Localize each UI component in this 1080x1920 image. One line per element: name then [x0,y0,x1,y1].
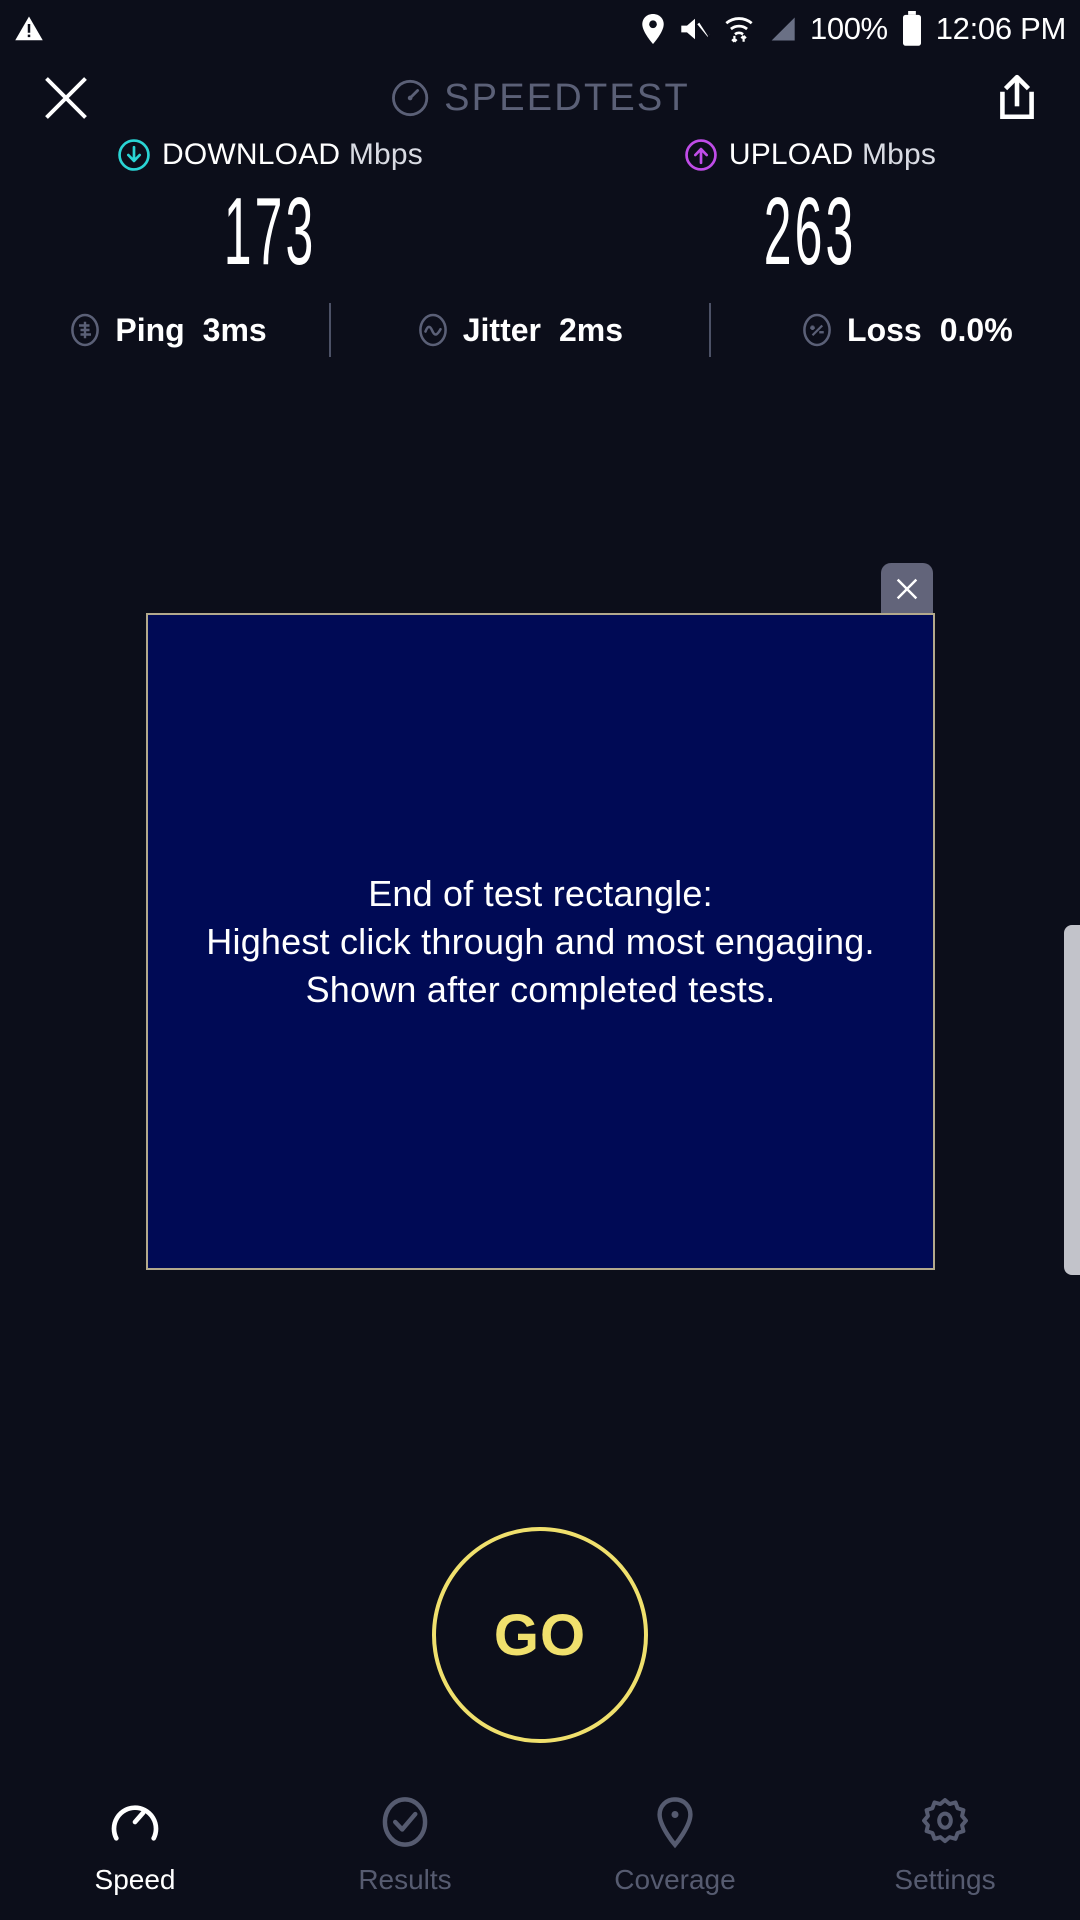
share-upload-icon[interactable] [994,73,1040,123]
speedtest-app-screen: 100% 12:06 PM SPEEDTEST [0,0,1080,1920]
go-button-label: GO [494,1602,586,1669]
download-unit: Mbps [349,138,423,171]
ping-icon [67,312,103,348]
download-label-text: DOWNLOAD [162,138,340,171]
ping-stat: Ping 3ms [67,312,266,349]
upload-label-text: UPLOAD [729,138,854,171]
nav-item-coverage[interactable]: Coverage [540,1794,810,1896]
status-bar-left [14,14,44,44]
arrow-down-circle-icon [117,138,151,172]
loss-icon [799,312,835,348]
ad-close-button[interactable] [881,563,933,615]
location-pin-icon [640,14,666,44]
nav-label-settings: Settings [894,1864,995,1896]
cellular-signal-icon [767,15,797,43]
jitter-value: 2ms [559,312,623,349]
jitter-label: Jitter [463,312,541,349]
warning-triangle-icon [14,14,44,44]
gear-icon [917,1794,973,1850]
vertical-scrollbar-thumb[interactable] [1064,925,1080,1275]
nav-item-settings[interactable]: Settings [810,1794,1080,1896]
close-x-icon[interactable] [40,72,92,124]
ad-line-1: End of test rectangle: [206,870,874,918]
status-bar: 100% 12:06 PM [0,0,1080,58]
jitter-icon [415,312,451,348]
volume-mute-icon [679,14,711,44]
ad-banner[interactable]: End of test rectangle: Highest click thr… [146,613,935,1270]
loss-label: Loss [847,312,922,349]
upload-value: 263 [764,184,857,280]
ad-text-block: End of test rectangle: Highest click thr… [206,870,874,1014]
speed-results-panel: DOWNLOAD Mbps 173 UPLOAD Mbps [0,138,1080,280]
map-pin-icon [647,1794,703,1850]
ping-value: 3ms [203,312,267,349]
arrow-up-circle-icon [684,138,718,172]
ad-line-2: Highest click through and most engaging. [206,918,874,966]
upload-metric: UPLOAD Mbps 263 [540,138,1080,280]
download-metric: DOWNLOAD Mbps 173 [0,138,540,280]
connection-stats-row: Ping 3ms Jitter 2ms Loss 0.0% [0,300,1080,360]
app-title-group: SPEEDTEST [390,77,690,120]
download-value: 173 [224,184,317,280]
download-label: DOWNLOAD Mbps [162,138,423,172]
ad-close-x-icon [893,575,921,603]
ad-line-3: Shown after completed tests. [206,966,874,1014]
nav-item-speed[interactable]: Speed [0,1794,270,1896]
jitter-stat: Jitter 2ms [415,312,623,349]
nav-label-coverage: Coverage [614,1864,735,1896]
battery-full-icon [901,11,923,47]
loss-value: 0.0% [940,312,1013,349]
ping-label: Ping [115,312,184,349]
wifi-icon [724,14,754,44]
bottom-navigation-bar: Speed Results Coverage Settings [0,1780,1080,1920]
page-title: SPEEDTEST [444,77,690,120]
upload-label: UPLOAD Mbps [729,138,936,172]
battery-percent-label: 100% [810,11,888,47]
stats-divider-2 [709,303,711,357]
nav-label-speed: Speed [95,1864,176,1896]
status-bar-right: 100% 12:06 PM [640,11,1066,47]
check-circle-icon [377,1794,433,1850]
nav-item-results[interactable]: Results [270,1794,540,1896]
app-header: SPEEDTEST [0,58,1080,138]
nav-label-results: Results [358,1864,451,1896]
go-button[interactable]: GO [432,1527,648,1743]
speedometer-icon [107,1794,163,1850]
stats-divider-1 [329,303,331,357]
upload-unit: Mbps [862,138,936,171]
speedometer-icon [390,78,430,118]
status-bar-clock: 12:06 PM [936,11,1066,47]
loss-stat: Loss 0.0% [799,312,1013,349]
